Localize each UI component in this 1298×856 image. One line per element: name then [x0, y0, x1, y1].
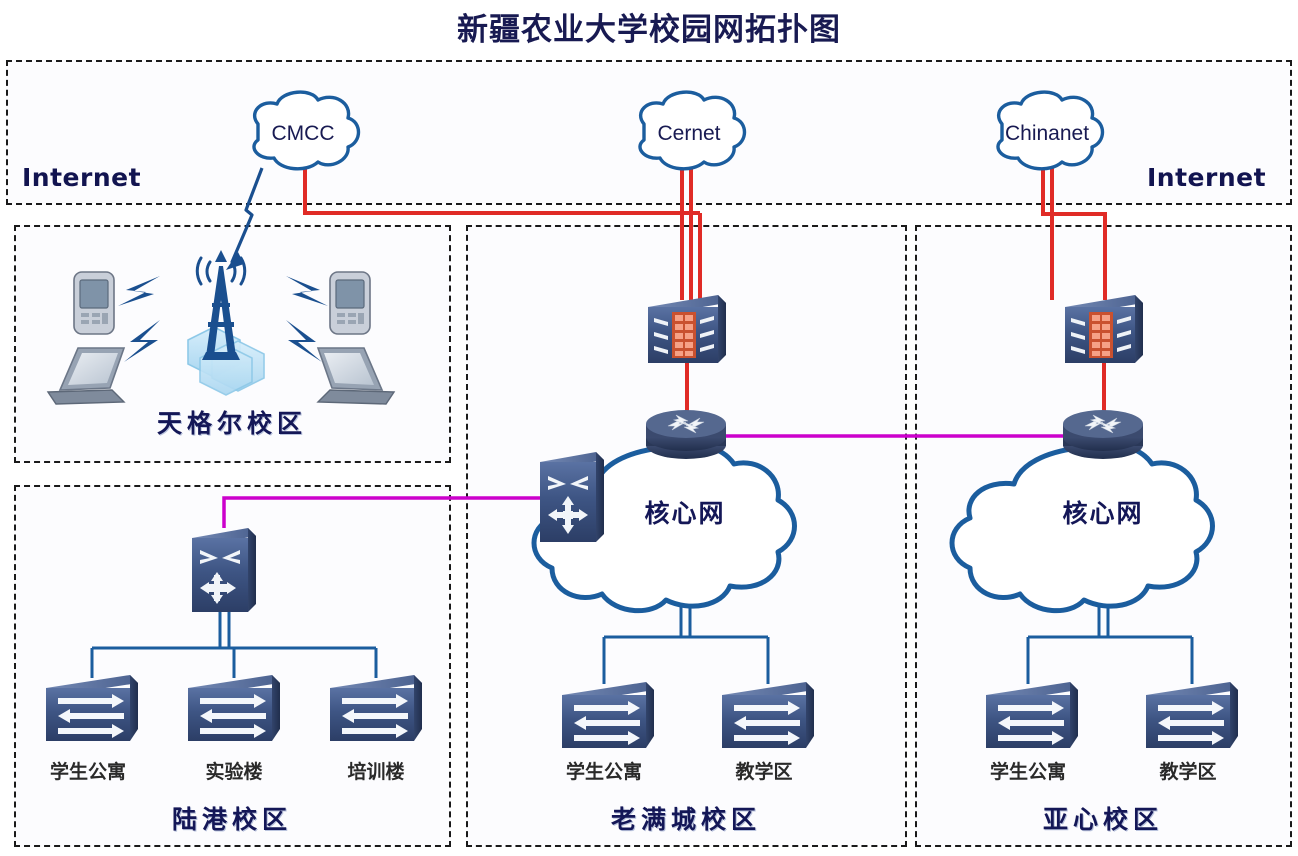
router-icon: [1063, 410, 1143, 459]
access-switch-icon: [562, 682, 654, 748]
access-switch-icon: [1146, 682, 1238, 748]
firewall-icon: [1065, 295, 1143, 363]
access-switch-icon: [330, 675, 422, 741]
node-label-lugang-train: 培训楼: [306, 757, 446, 784]
node-label-yx-teaching: 教学区: [1118, 757, 1258, 784]
isp-cloud-label: Chinanet: [982, 122, 1112, 146]
campus-label-tiangeer: 天格尔校区: [112, 404, 352, 440]
firewall-icon: [648, 295, 726, 363]
campus-label-laomancheng: 老满城校区: [566, 800, 806, 836]
node-label-lugang-lab: 实验楼: [164, 757, 304, 784]
campus-label-lugang: 陆港校区: [112, 800, 352, 836]
access-switch-icon: [188, 675, 280, 741]
internet-label-right: Internet: [1147, 163, 1266, 192]
access-switch-icon: [46, 675, 138, 741]
core-network-label-yaxin: 核心网: [1033, 494, 1173, 530]
multilayer-switch-icon: [192, 528, 256, 612]
campus-label-yaxin: 亚心校区: [983, 800, 1223, 836]
core-network-label-laomancheng: 核心网: [615, 494, 755, 530]
multilayer-switch-icon: [540, 452, 604, 542]
isp-cloud-label: CMCC: [238, 122, 368, 146]
router-icon: [646, 410, 726, 459]
node-label-lmc-teaching: 教学区: [694, 757, 834, 784]
node-label-lmc-dorm: 学生公寓: [534, 757, 674, 784]
access-switch-icon: [986, 682, 1078, 748]
internet-label-left: Internet: [22, 163, 141, 192]
access-switch-icon: [722, 682, 814, 748]
node-label-lugang-dorm: 学生公寓: [18, 757, 158, 784]
topology-canvas: 新疆农业大学校园网拓扑图: [0, 0, 1298, 856]
node-label-yx-dorm: 学生公寓: [958, 757, 1098, 784]
isp-cloud-label: Cernet: [624, 122, 754, 146]
